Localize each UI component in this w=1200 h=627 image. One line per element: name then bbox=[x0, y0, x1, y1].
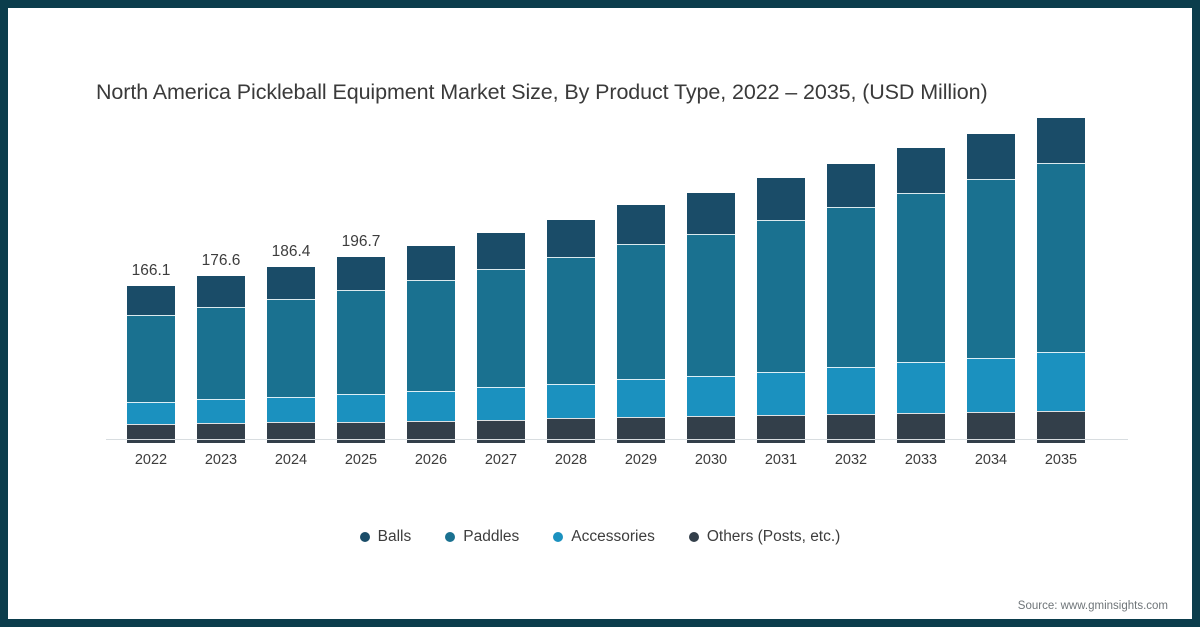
stacked-bar[interactable] bbox=[897, 148, 945, 443]
bar-segment[interactable] bbox=[897, 148, 945, 193]
x-axis-label: 2034 bbox=[956, 452, 1026, 468]
legend-item[interactable]: Paddles bbox=[445, 528, 519, 546]
bar-segment[interactable] bbox=[1037, 163, 1085, 352]
bar-group[interactable] bbox=[547, 220, 595, 443]
x-axis-label: 2031 bbox=[746, 452, 816, 468]
legend-label: Others (Posts, etc.) bbox=[707, 528, 841, 546]
bar-segment[interactable] bbox=[1037, 118, 1085, 163]
stacked-bar[interactable]: 166.1 bbox=[127, 286, 175, 443]
x-axis-label: 2028 bbox=[536, 452, 606, 468]
stacked-bar[interactable] bbox=[407, 246, 455, 443]
bar-segment[interactable] bbox=[827, 367, 875, 414]
bar-group[interactable]: 176.6 bbox=[197, 276, 245, 443]
bar-segment[interactable] bbox=[197, 399, 245, 423]
bar-segment[interactable] bbox=[757, 372, 805, 415]
bar-segment[interactable] bbox=[617, 244, 665, 379]
bar-segment[interactable] bbox=[477, 233, 525, 269]
chart-legend: BallsPaddlesAccessoriesOthers (Posts, et… bbox=[8, 528, 1192, 546]
bar-segment[interactable] bbox=[127, 286, 175, 315]
bar-segment[interactable] bbox=[617, 379, 665, 417]
bar-group[interactable]: 166.1 bbox=[127, 286, 175, 443]
bar-segment[interactable] bbox=[547, 220, 595, 257]
bar-segment[interactable] bbox=[687, 234, 735, 376]
stacked-bar[interactable] bbox=[687, 193, 735, 443]
bar-group[interactable] bbox=[1037, 118, 1085, 443]
legend-swatch-icon bbox=[689, 532, 699, 542]
source-caption: Source: www.gminsights.com bbox=[1018, 600, 1168, 612]
x-axis-label: 2023 bbox=[186, 452, 256, 468]
bar-group[interactable] bbox=[617, 205, 665, 443]
x-axis-label: 2027 bbox=[466, 452, 536, 468]
bar-segment[interactable] bbox=[547, 384, 595, 419]
x-axis-label: 2030 bbox=[676, 452, 746, 468]
x-axis-label: 2029 bbox=[606, 452, 676, 468]
bar-segment[interactable] bbox=[267, 267, 315, 299]
bar-segment[interactable] bbox=[827, 164, 875, 207]
x-axis-line bbox=[106, 439, 1128, 440]
bar-segment[interactable] bbox=[827, 207, 875, 367]
stacked-bar[interactable] bbox=[1037, 118, 1085, 443]
bar-segment[interactable] bbox=[1037, 352, 1085, 411]
stacked-bar[interactable]: 196.7 bbox=[337, 257, 385, 443]
bar-group[interactable] bbox=[967, 134, 1015, 443]
bar-segment[interactable] bbox=[127, 315, 175, 402]
chart-page: North America Pickleball Equipment Marke… bbox=[0, 0, 1200, 627]
bar-segment[interactable] bbox=[617, 205, 665, 244]
bar-segment[interactable] bbox=[407, 280, 455, 391]
stacked-bar[interactable] bbox=[547, 220, 595, 443]
stacked-bar[interactable] bbox=[477, 233, 525, 443]
bar-segment[interactable] bbox=[267, 397, 315, 423]
stacked-bar[interactable] bbox=[827, 164, 875, 443]
bar-group[interactable] bbox=[897, 148, 945, 443]
x-axis-label: 2024 bbox=[256, 452, 326, 468]
legend-item[interactable]: Balls bbox=[360, 528, 412, 546]
bar-segment[interactable] bbox=[897, 193, 945, 362]
bar-segment[interactable] bbox=[337, 394, 385, 421]
bar-group[interactable] bbox=[687, 193, 735, 443]
x-axis-label: 2025 bbox=[326, 452, 396, 468]
bar-segment[interactable] bbox=[477, 387, 525, 419]
bar-value-label: 196.7 bbox=[342, 233, 381, 251]
bar-value-label: 176.6 bbox=[202, 252, 241, 270]
legend-item[interactable]: Others (Posts, etc.) bbox=[689, 528, 841, 546]
x-axis-label: 2035 bbox=[1026, 452, 1096, 468]
bar-segment[interactable] bbox=[757, 220, 805, 372]
legend-swatch-icon bbox=[360, 532, 370, 542]
bar-segment[interactable] bbox=[897, 362, 945, 413]
x-axis-label: 2032 bbox=[816, 452, 886, 468]
bar-segment[interactable] bbox=[407, 246, 455, 280]
bar-group[interactable] bbox=[757, 178, 805, 443]
legend-swatch-icon bbox=[553, 532, 563, 542]
legend-item[interactable]: Accessories bbox=[553, 528, 655, 546]
bar-value-label: 166.1 bbox=[132, 262, 171, 280]
bar-segment[interactable] bbox=[337, 290, 385, 394]
bar-segment[interactable] bbox=[127, 424, 175, 443]
bar-group[interactable] bbox=[407, 246, 455, 443]
stacked-bar[interactable] bbox=[757, 178, 805, 443]
chart-title: North America Pickleball Equipment Marke… bbox=[96, 80, 1126, 105]
bar-segment[interactable] bbox=[197, 307, 245, 400]
stacked-bar[interactable] bbox=[967, 134, 1015, 443]
bar-segment[interactable] bbox=[127, 402, 175, 424]
legend-label: Balls bbox=[378, 528, 412, 546]
bar-group[interactable] bbox=[477, 233, 525, 443]
chart-canvas: North America Pickleball Equipment Marke… bbox=[8, 8, 1192, 619]
bar-segment[interactable] bbox=[967, 134, 1015, 179]
plot-area: 166.1176.6186.4196.7 bbox=[106, 118, 1126, 443]
stacked-bar[interactable]: 176.6 bbox=[197, 276, 245, 443]
bar-segment[interactable] bbox=[547, 257, 595, 384]
x-axis-label: 2026 bbox=[396, 452, 466, 468]
bar-segment[interactable] bbox=[757, 178, 805, 220]
x-axis-label: 2033 bbox=[886, 452, 956, 468]
bar-segment[interactable] bbox=[337, 257, 385, 290]
bar-group[interactable]: 186.4 bbox=[267, 267, 315, 443]
bar-segment[interactable] bbox=[967, 179, 1015, 358]
x-axis-label: 2022 bbox=[116, 452, 186, 468]
stacked-bar[interactable]: 186.4 bbox=[267, 267, 315, 443]
bar-group[interactable]: 196.7 bbox=[337, 257, 385, 443]
stacked-bar[interactable] bbox=[617, 205, 665, 443]
legend-label: Paddles bbox=[463, 528, 519, 546]
legend-swatch-icon bbox=[445, 532, 455, 542]
bar-segment[interactable] bbox=[407, 391, 455, 421]
bar-segment[interactable] bbox=[967, 358, 1015, 412]
bar-segment[interactable] bbox=[197, 276, 245, 306]
bar-segment[interactable] bbox=[477, 269, 525, 387]
bar-value-label: 186.4 bbox=[272, 243, 311, 261]
legend-label: Accessories bbox=[571, 528, 655, 546]
bar-segment[interactable] bbox=[687, 376, 735, 416]
bar-segment[interactable] bbox=[267, 299, 315, 397]
bar-group[interactable] bbox=[827, 164, 875, 443]
bar-segment[interactable] bbox=[687, 193, 735, 234]
